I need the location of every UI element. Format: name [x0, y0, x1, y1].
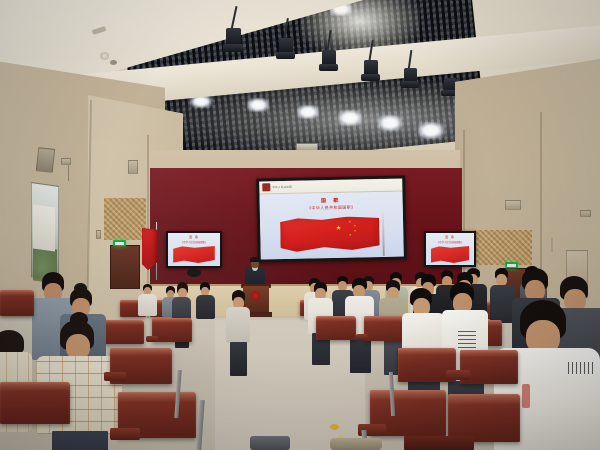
seat-cushion	[404, 436, 474, 450]
monitor-stand	[187, 268, 201, 277]
spotlight-head	[361, 74, 380, 81]
slide-header-text: 中华人民共和国	[272, 185, 292, 189]
bag-on-floor	[330, 438, 382, 450]
podium-emblem	[251, 291, 260, 300]
seat-armrest	[110, 428, 140, 440]
wall-control-plate	[61, 158, 71, 165]
slide-body: 国 歌 《中华人民共和国国歌》 ★ ★ ★ ★ ★	[259, 192, 403, 260]
spotlight-head	[276, 52, 295, 59]
wall-mounted-speaker	[36, 147, 55, 173]
exit-sign-left	[113, 240, 126, 246]
seat	[0, 382, 70, 424]
slide-flag-figure: ★ ★ ★ ★ ★	[280, 214, 387, 258]
window-blind	[33, 204, 55, 251]
seat-armrest	[104, 372, 126, 381]
spotlight-head	[319, 64, 338, 71]
wall-vent	[505, 200, 521, 210]
flag-star-small: ★	[354, 230, 356, 233]
seat-armrest	[446, 370, 470, 380]
person-torso	[196, 295, 215, 319]
seat-armrest	[356, 334, 368, 340]
monitor-screen: 国 歌 《中华人民共和国国歌》	[426, 233, 474, 265]
ceiling-light-panel	[297, 105, 319, 119]
seat	[104, 320, 144, 344]
slide-flagpole	[382, 210, 384, 256]
seat	[0, 290, 34, 316]
person-legs	[230, 342, 247, 376]
wall-sign-plate	[128, 160, 138, 174]
slide-flag-cloth: ★ ★ ★ ★ ★	[280, 216, 380, 252]
person-hair-bun	[74, 283, 87, 294]
seat	[316, 316, 356, 340]
shirt-print	[458, 328, 476, 348]
person-torso	[226, 307, 250, 343]
floor-litter	[330, 424, 339, 430]
door-left	[110, 245, 140, 289]
monitor-subtitle: 《中华人民共和国国歌》	[168, 240, 220, 244]
recessed-downlight	[110, 60, 117, 65]
speaker-hair	[250, 257, 260, 262]
wall-control-plate	[96, 230, 101, 239]
ceiling-light-panel	[338, 110, 362, 126]
acoustic-panel-left	[104, 198, 146, 240]
person-legs	[52, 431, 108, 450]
right-wall-monitor[interactable]: 国 歌 《中华人民共和国国歌》	[424, 231, 476, 267]
acoustic-panel-right	[474, 230, 532, 265]
shirt-print	[568, 362, 596, 374]
flag-star-small: ★	[349, 235, 351, 238]
wall-cable	[551, 238, 553, 252]
monitor-subtitle: 《中华人民共和国国歌》	[426, 240, 474, 244]
monitor-title: 国 歌	[168, 235, 220, 239]
projected-slide: 中华人民共和国 国 歌 《中华人民共和国国歌》 ★ ★ ★ ★ ★	[259, 179, 404, 260]
slide-logo-icon	[262, 183, 270, 191]
seat	[152, 318, 192, 342]
exit-sign-right	[505, 262, 518, 268]
shirt-print	[522, 384, 530, 408]
wall-cable	[68, 165, 69, 181]
monitor-flag-image	[431, 246, 469, 263]
seat	[448, 394, 520, 442]
recessed-downlight	[100, 52, 109, 60]
flag-star-small: ★	[354, 225, 356, 228]
monitor-flag-image	[173, 246, 215, 263]
ceiling-light-panel	[418, 122, 444, 139]
seat-armrest	[146, 336, 158, 342]
projection-screen[interactable]: 中华人民共和国 国 歌 《中华人民共和国国歌》 ★ ★ ★ ★ ★	[256, 175, 407, 262]
monitor-screen: 国 歌 《中华人民共和国国歌》	[168, 233, 220, 266]
person-hair	[0, 330, 24, 354]
flag-star-large: ★	[336, 226, 342, 232]
ceiling-light-panel	[247, 98, 269, 112]
flag-star-small: ★	[349, 222, 351, 225]
spotlight-head	[223, 44, 243, 52]
auditorium-photo: 国 歌 《中华人民共和国国歌》 国 歌 《中华人民共和国国歌》 中华人民共和国 …	[0, 0, 600, 450]
wall-control-plate	[580, 210, 591, 217]
person-torso	[138, 294, 157, 316]
person-legs	[350, 337, 371, 373]
left-wall-monitor[interactable]: 国 歌 《中华人民共和国国歌》	[166, 231, 222, 268]
spotlight-head	[401, 81, 419, 88]
bag-on-floor	[250, 436, 290, 450]
seat	[364, 316, 404, 341]
monitor-title: 国 歌	[426, 235, 474, 239]
ceiling-light-panel	[378, 115, 402, 131]
